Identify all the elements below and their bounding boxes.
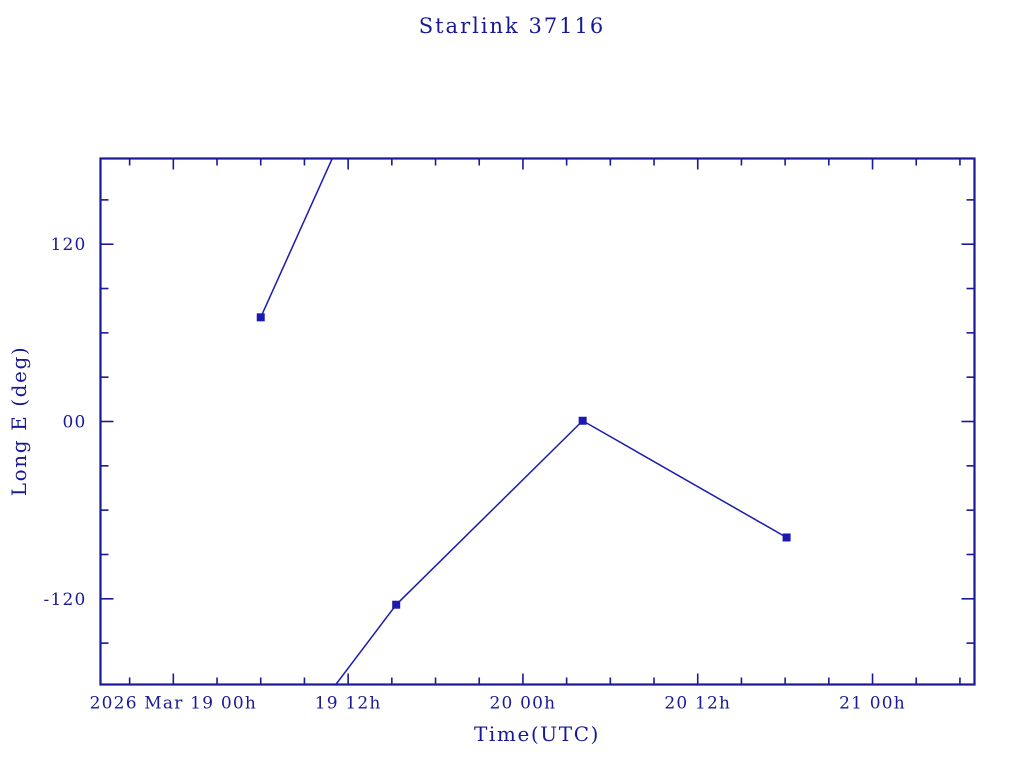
data-point-marker [257, 314, 264, 321]
data-point-marker [783, 534, 790, 541]
x-tick-labels: 2026 Mar 19 00h19 12h20 00h20 12h21 00h [90, 694, 906, 714]
y-tick-label: -120 [44, 590, 87, 610]
y-tick-label: 120 [50, 235, 86, 255]
data-line [396, 421, 786, 605]
plot-area: 12000-120 2026 Mar 19 00h19 12h20 00h20 … [0, 0, 1024, 768]
y-tick-label: 00 [62, 413, 86, 433]
y-axis-title: Long E (deg) [7, 346, 31, 497]
x-tick-label: 20 00h [490, 694, 557, 714]
x-axis-title: Time(UTC) [474, 722, 600, 746]
x-tick-label: 20 12h [664, 694, 731, 714]
data-series [257, 156, 790, 688]
x-tick-label: 21 00h [839, 694, 906, 714]
data-line-wrap-segment [334, 605, 397, 688]
axis-ticks [101, 159, 975, 685]
chart-page: Starlink 37116 12000-120 2026 Mar 19 00h… [0, 0, 1024, 768]
plot-frame [101, 159, 975, 685]
data-point-marker [393, 601, 400, 608]
data-point-marker [579, 417, 586, 424]
x-tick-label: 19 12h [315, 694, 382, 714]
x-tick-label: 2026 Mar 19 00h [90, 694, 257, 714]
data-line-wrap-segment [261, 156, 334, 318]
y-tick-labels: 12000-120 [44, 235, 87, 610]
